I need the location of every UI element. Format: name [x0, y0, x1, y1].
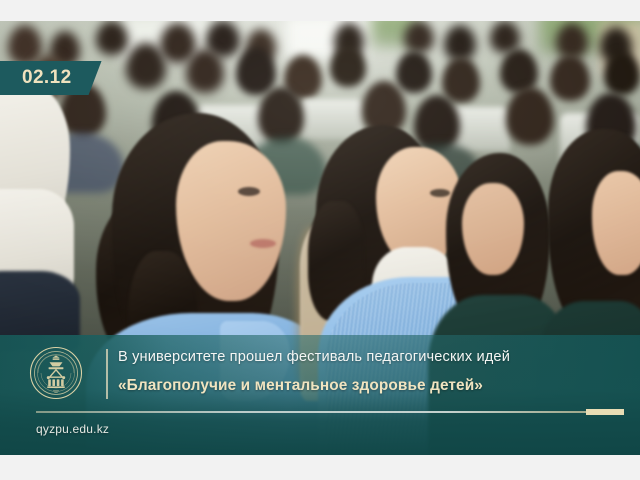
date-badge: 02.12 — [0, 61, 102, 95]
university-seal-icon — [29, 346, 83, 400]
caption-divider — [106, 349, 108, 399]
caption-banner: В университете прошел фестиваль педагоги… — [0, 335, 640, 455]
caption-rule — [36, 411, 624, 413]
caption-headline-secondary: «Благополучие и ментальное здоровье дете… — [118, 377, 483, 395]
caption-content: В университете прошел фестиваль педагоги… — [0, 335, 640, 455]
event-photo: 02.12 — [0, 21, 640, 455]
image-canvas: 02.12 — [0, 0, 640, 480]
caption-headline-primary: В университете прошел фестиваль педагоги… — [118, 349, 510, 365]
caption-rule-accent — [586, 409, 624, 415]
website-url: qyzpu.edu.kz — [36, 422, 109, 436]
